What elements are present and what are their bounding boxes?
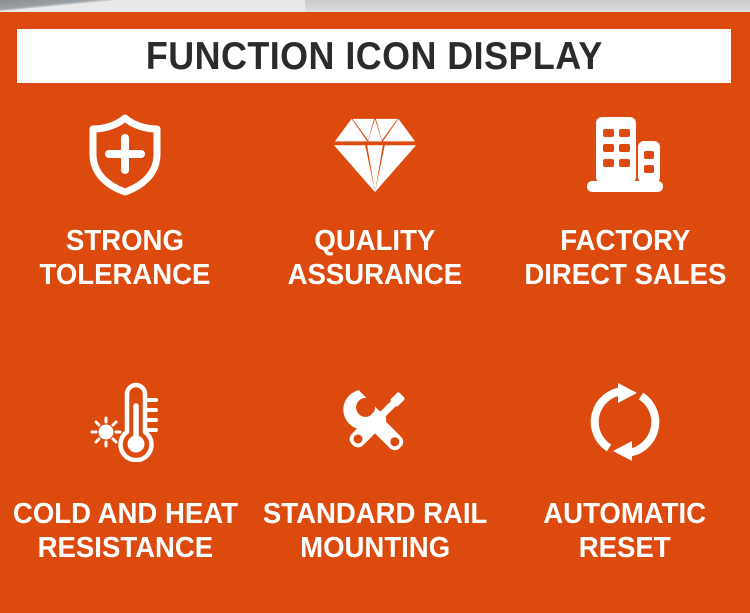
feature-item-standard-rail-mounting: STANDARD RAIL MOUNTING bbox=[250, 355, 500, 613]
feature-item-cold-heat-resistance: COLD AND HEAT RESISTANCE bbox=[0, 355, 250, 613]
screwdriver-wrench-icon bbox=[332, 379, 418, 465]
shield-plus-icon bbox=[82, 112, 168, 198]
feature-item-factory-direct-sales: FACTORY DIRECT SALES bbox=[500, 96, 750, 355]
feature-item-automatic-reset: AUTOMATIC RESET bbox=[500, 355, 750, 613]
page-title: FUNCTION ICON DISPLAY bbox=[146, 37, 603, 76]
feature-label: FACTORY DIRECT SALES bbox=[524, 224, 726, 292]
feature-item-strong-tolerance: STRONG TOLERANCE bbox=[0, 96, 250, 355]
top-diagonal-wedge bbox=[0, 0, 120, 12]
refresh-cycle-icon bbox=[582, 379, 668, 465]
function-icon-display-banner: FUNCTION ICON DISPLAY STRONG TOLERANCE bbox=[0, 0, 750, 613]
top-grey-strip-right bbox=[305, 0, 750, 12]
feature-item-quality-assurance: QUALITY ASSURANCE bbox=[250, 96, 500, 355]
factory-buildings-icon bbox=[582, 112, 668, 198]
title-bar: FUNCTION ICON DISPLAY bbox=[17, 29, 731, 83]
top-grey-strip bbox=[0, 0, 750, 12]
diamond-gem-icon bbox=[332, 112, 418, 198]
feature-label: AUTOMATIC RESET bbox=[544, 497, 707, 565]
feature-label: STANDARD RAIL MOUNTING bbox=[263, 497, 487, 565]
feature-label: QUALITY ASSURANCE bbox=[288, 224, 463, 292]
feature-grid: STRONG TOLERANCE bbox=[0, 96, 750, 613]
thermometer-sun-icon bbox=[82, 379, 168, 465]
feature-label: COLD AND HEAT RESISTANCE bbox=[12, 497, 237, 565]
feature-label: STRONG TOLERANCE bbox=[40, 224, 211, 292]
